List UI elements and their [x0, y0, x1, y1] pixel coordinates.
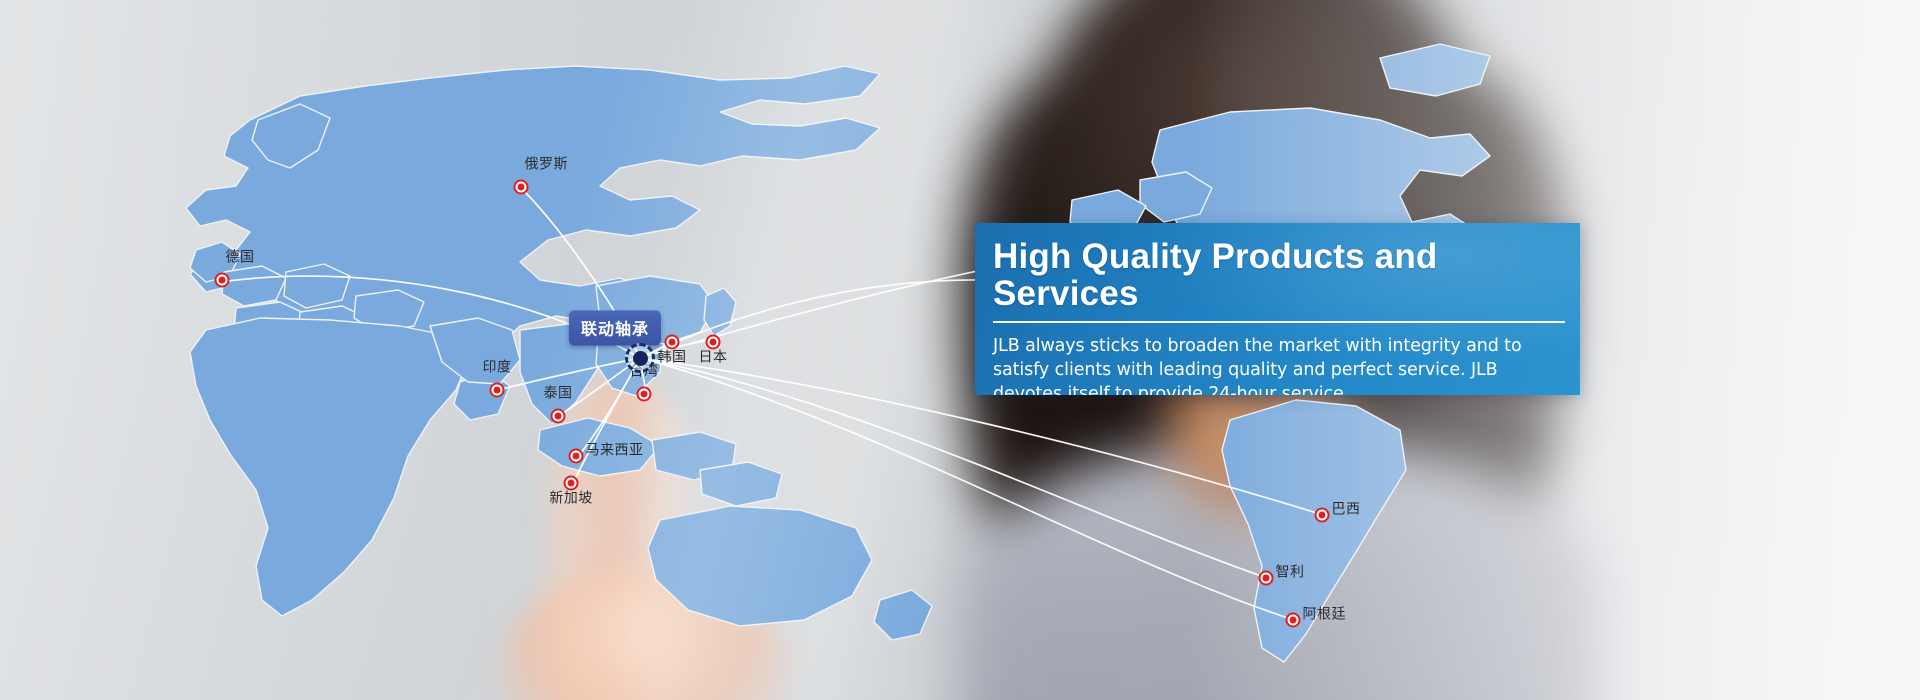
map-marker-label-brazil: 巴西 — [1332, 499, 1361, 519]
map-marker-korea[interactable]: 韩国 — [665, 335, 680, 350]
location-pin-icon — [514, 180, 529, 195]
map-marker-label-malaysia: 马来西亚 — [586, 440, 644, 460]
hub-core-icon — [633, 351, 648, 366]
map-marker-label-thailand: 泰国 — [544, 383, 573, 403]
map-marker-malaysia[interactable]: 马来西亚 — [569, 449, 584, 464]
location-pin-icon — [551, 409, 566, 424]
panel-body-text: JLB always sticks to broaden the market … — [993, 334, 1562, 396]
map-marker-label-chile: 智利 — [1276, 562, 1305, 582]
map-marker-taiwan[interactable]: 台湾 — [637, 387, 652, 402]
hub-ring-icon — [625, 343, 655, 373]
location-pin-icon — [490, 383, 505, 398]
panel-divider — [993, 321, 1565, 323]
map-marker-label-argentina: 阿根廷 — [1303, 604, 1347, 624]
map-marker-india[interactable]: 印度 — [490, 383, 505, 398]
map-marker-label-india: 印度 — [483, 357, 512, 377]
map-marker-label-korea: 韩国 — [658, 347, 687, 367]
map-marker-argentina[interactable]: 阿根廷 — [1286, 613, 1301, 628]
map-marker-label-singapore: 新加坡 — [549, 488, 593, 508]
map-marker-singapore[interactable]: 新加坡 — [564, 476, 579, 491]
map-marker-chile[interactable]: 智利 — [1259, 571, 1274, 586]
hub-marker[interactable] — [625, 343, 655, 373]
panel-title: High Quality Products and Services — [993, 239, 1580, 313]
info-panel: High Quality Products and Services JLB a… — [975, 223, 1580, 395]
location-pin-icon — [215, 273, 230, 288]
map-marker-thailand[interactable]: 泰国 — [551, 409, 566, 424]
hub-brand-tag[interactable]: 联动轴承 — [569, 311, 661, 346]
map-marker-label-japan: 日本 — [699, 347, 728, 367]
landmass-australia — [648, 506, 932, 640]
map-marker-russia[interactable]: 俄罗斯 — [514, 180, 529, 195]
location-pin-icon — [569, 449, 584, 464]
world-map — [0, 0, 1920, 700]
world-map-svg — [0, 0, 1920, 700]
location-pin-icon — [1286, 613, 1301, 628]
location-pin-icon — [1259, 571, 1274, 586]
banner-stage: 俄罗斯德国韩国日本台湾印度泰国马来西亚新加坡美国巴西智利阿根廷 联动轴承 Hig… — [0, 0, 1920, 700]
map-marker-germany[interactable]: 德国 — [215, 273, 230, 288]
map-marker-label-germany: 德国 — [226, 247, 255, 267]
map-marker-japan[interactable]: 日本 — [706, 335, 721, 350]
map-marker-brazil[interactable]: 巴西 — [1315, 508, 1330, 523]
location-pin-icon — [637, 387, 652, 402]
location-pin-icon — [1315, 508, 1330, 523]
map-marker-label-russia: 俄罗斯 — [525, 154, 569, 174]
